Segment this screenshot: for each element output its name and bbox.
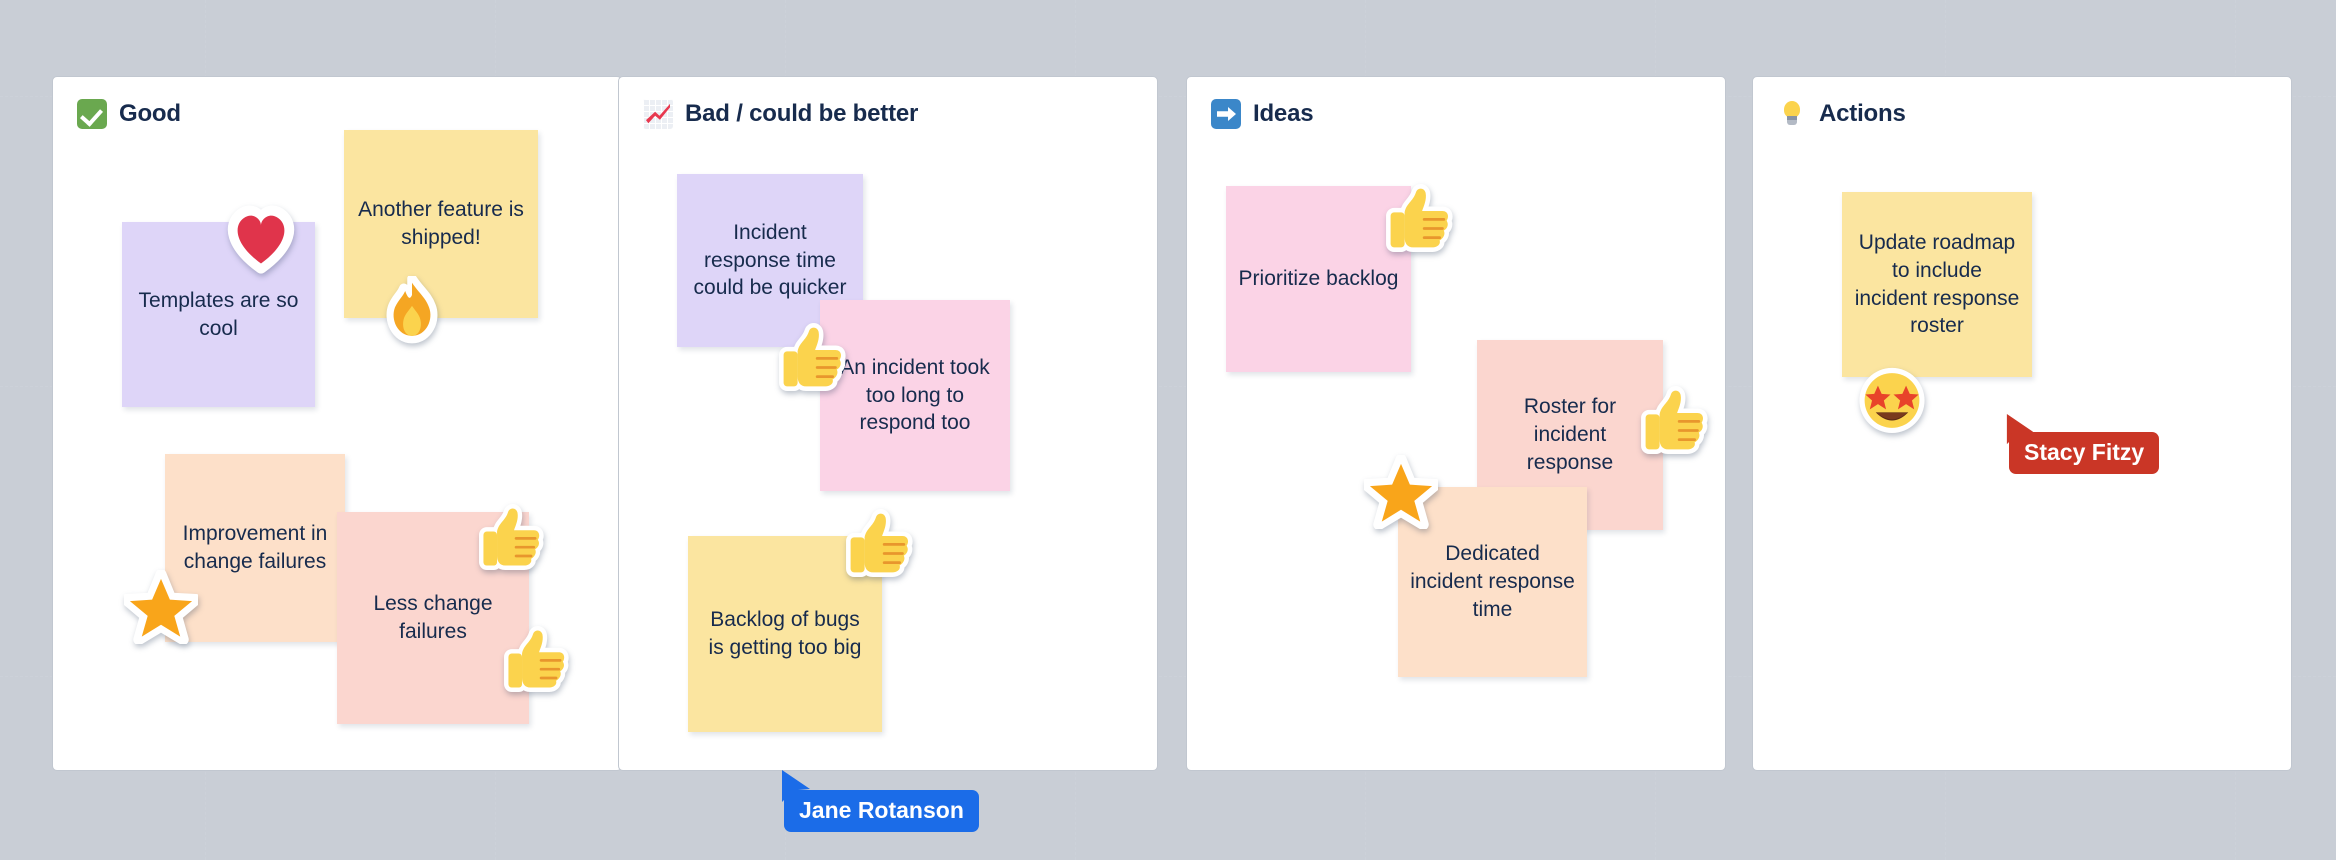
collaborator-name-label: Jane Rotanson <box>784 790 979 832</box>
sticky-note[interactable]: An incident took too long to respond too <box>820 300 1010 491</box>
sticky-note-text: Backlog of bugs is getting too big <box>700 606 870 661</box>
column-title: Ideas <box>1253 100 1313 128</box>
thumbs-up-icon[interactable] <box>503 625 571 693</box>
sticky-note[interactable]: Prioritize backlog <box>1226 186 1411 372</box>
sticky-note-text: Templates are so cool <box>134 287 303 342</box>
collaborator-cursor-stacy: Stacy Fitzy <box>2005 412 2159 474</box>
sticky-note-text: Prioritize backlog <box>1239 265 1399 293</box>
star-icon[interactable] <box>124 570 198 644</box>
thumbs-up-icon[interactable] <box>1385 183 1455 253</box>
star-struck-icon[interactable] <box>1855 362 1929 436</box>
sticky-note-text: An incident took too long to respond too <box>832 354 998 437</box>
column-title: Good <box>119 100 181 128</box>
sticky-note-text: Dedicated incident response time <box>1410 540 1575 623</box>
collaborator-name-label: Stacy Fitzy <box>2009 432 2159 474</box>
sticky-note[interactable]: Update roadmap to include incident respo… <box>1842 192 2032 377</box>
column-header-bad: Bad / could be better <box>643 99 918 129</box>
sticky-note-text: Less change failures <box>349 590 517 645</box>
column-title: Actions <box>1819 100 1906 128</box>
sticky-note-text: Incident response time could be quicker <box>689 219 851 302</box>
white-check-mark-icon <box>77 99 107 129</box>
sticky-note-text: Roster for incident response <box>1489 393 1651 476</box>
chart-increasing-icon <box>643 99 673 129</box>
thumbs-up-icon[interactable] <box>778 322 848 392</box>
thumbs-up-icon[interactable] <box>478 503 546 571</box>
sticky-note-text: Update roadmap to include incident respo… <box>1854 229 2020 340</box>
retro-board-canvas[interactable]: Good Bad / could be better Ideas Actions… <box>0 0 2336 860</box>
collaborator-cursor-jane: Jane Rotanson <box>780 768 979 832</box>
fire-icon[interactable] <box>378 276 446 344</box>
star-icon[interactable] <box>1364 455 1438 529</box>
right-arrow-icon <box>1211 99 1241 129</box>
red-heart-icon[interactable] <box>225 203 297 275</box>
sticky-note-text: Improvement in change failures <box>177 520 333 575</box>
sticky-note-text: Another feature is shipped! <box>356 196 526 251</box>
column-title: Bad / could be better <box>685 100 918 128</box>
thumbs-up-icon[interactable] <box>845 508 915 578</box>
thumbs-up-icon[interactable] <box>1640 385 1710 455</box>
column-header-good: Good <box>77 99 181 129</box>
light-bulb-icon <box>1777 99 1807 129</box>
column-header-actions: Actions <box>1777 99 1906 129</box>
column-header-ideas: Ideas <box>1211 99 1313 129</box>
